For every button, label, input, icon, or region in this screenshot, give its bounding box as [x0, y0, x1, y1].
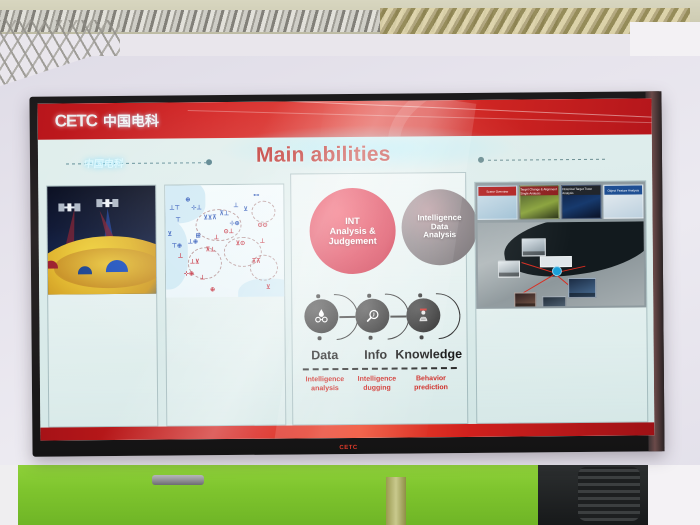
- flow-arc-dot-2a: [367, 294, 371, 298]
- panel-joint-recon-command: Joint Recon. & Command: [46, 185, 158, 428]
- map-node-thumb[interactable]: [522, 238, 546, 256]
- radar-dome-2: [78, 266, 92, 274]
- flow-arc-dot-2b: [369, 336, 373, 340]
- panel-int-analysis-judgement: INT Analysis & Judgement Intelligence Da…: [290, 172, 468, 426]
- flow-sub-knowledge: Behavior prediction: [403, 375, 459, 393]
- ability-panels: Joint Recon. & Command: [46, 180, 646, 425]
- bubble-line: Analysis &: [329, 226, 377, 236]
- title-dashed-rule-right: [488, 159, 606, 161]
- title-dot-right: [478, 157, 484, 163]
- satellite-icon-1: [59, 206, 79, 208]
- art-tactical-map: ⊥⊤ ⊤ ⊻ ⊤⊕ ⊕ ⊹⊥ ⊻⊻⊼ ⊼⊥ ⊥ ⊻ ⊹⊕ ⊥⊕: [165, 185, 284, 298]
- panel-situation-monitoring: Situation Monitoring & Early Warning: [164, 184, 286, 427]
- flow-icon-circle-info[interactable]: [355, 299, 389, 333]
- flow-connector-2: [390, 315, 406, 317]
- bubble-int-analysis-judgement[interactable]: INT Analysis & Judgement: [309, 188, 396, 275]
- decoration-chinese-text: 中国电科: [83, 155, 125, 170]
- tyre-object: [578, 467, 640, 521]
- cetc-logo: CETC 中国电科: [55, 111, 159, 132]
- flow-arc-dot-3a: [418, 293, 422, 297]
- dashboard-thumbnail[interactable]: Object Feature Analysis: [603, 184, 643, 218]
- earth-landmass: [54, 248, 156, 289]
- dashboard-thumbnail[interactable]: Historical Target Trace Analysis: [561, 185, 601, 219]
- presentation-slide: CETC 中国电科 Main abilities 中国电科: [38, 98, 655, 440]
- data-info-knowledge-flow: Data Info Knowledge Intelligence analysi…: [292, 291, 467, 419]
- bubble-line: Analysis: [418, 231, 462, 240]
- thumbnail-caption: Target Change & Alignment Single Analysi…: [520, 186, 558, 195]
- flow-icon-circle-data[interactable]: [304, 299, 338, 333]
- title-dot-left: [206, 159, 212, 165]
- wall-mounted-tv: CETC CETC 中国电科 Main abilities 中国电科: [29, 91, 664, 457]
- flow-arc-dot-1a: [316, 294, 320, 298]
- flow-connector-1: [339, 316, 355, 318]
- flow-sub-line: analysis: [297, 385, 353, 394]
- map-node-thumb[interactable]: [542, 296, 566, 307]
- cetc-logo-chinese: 中国电科: [103, 111, 159, 131]
- thumbnail-caption: Object Feature Analysis: [604, 185, 642, 194]
- art-satellite-earth: [47, 186, 156, 295]
- magnifier-icon: [364, 307, 381, 324]
- booth-photo-scene: CETC CETC 中国电科 Main abilities 中国电科: [0, 0, 700, 525]
- cetc-logo-mark: CETC: [55, 111, 97, 131]
- booth-pole: [386, 477, 406, 525]
- bubble-intelligence-data-analysis[interactable]: Intelligence Data Analysis: [401, 189, 478, 266]
- map-node-thumb[interactable]: [568, 278, 596, 298]
- map-node-thumb[interactable]: [498, 260, 520, 277]
- flow-sub-line: dugging: [349, 384, 405, 393]
- flow-sub-data: Intelligence analysis: [297, 376, 353, 394]
- flow-divider-dashed: [303, 367, 457, 370]
- dashboard-thumbnail[interactable]: Scene Overview: [477, 186, 517, 220]
- art-intelligence-dashboard: Scene Overview Target Change & Alignment…: [475, 181, 646, 308]
- floor-edge-right: [648, 465, 700, 525]
- thumbnail-caption: Scene Overview: [478, 187, 516, 196]
- dashboard-thumbnail-strip: Scene Overview Target Change & Alignment…: [477, 184, 643, 219]
- flow-arc-dot-3b: [420, 335, 424, 339]
- panel-int-distribution-sharing: INT Distribution & Sharing Scene Overvie…: [474, 180, 648, 423]
- dashboard-satellite-map[interactable]: [478, 221, 645, 306]
- map-hub-marker: [552, 266, 562, 276]
- flow-sub-line: prediction: [403, 384, 459, 393]
- flow-arc-dot-1b: [318, 336, 322, 340]
- slide-header-bar: CETC 中国电科: [38, 98, 652, 139]
- tv-screen: CETC 中国电科 Main abilities 中国电科: [38, 98, 655, 440]
- dashboard-thumbnail[interactable]: Target Change & Alignment Single Analysi…: [519, 185, 559, 219]
- bubble-line: INT: [328, 216, 376, 226]
- funnel-filter-icon: [312, 307, 330, 325]
- bubble-line: Judgement: [329, 236, 377, 246]
- flow-icon-circle-knowledge[interactable]: [406, 298, 440, 332]
- thumbnail-caption: Historical Target Trace Analysis: [562, 186, 600, 195]
- floor-edge-left: [0, 465, 18, 525]
- person-figure-icon: [414, 306, 432, 324]
- flow-label-knowledge: Knowledge: [391, 347, 467, 362]
- map-node-thumb[interactable]: [514, 292, 536, 307]
- tv-stand-foot: [152, 475, 204, 485]
- map-ring-4: [251, 201, 275, 223]
- satellite-icon-2: [97, 202, 117, 204]
- page-title: Main abilities: [256, 143, 391, 168]
- map-sea-2: [165, 219, 188, 289]
- tv-bezel-logo: CETC: [339, 445, 357, 451]
- map-sea-3: [238, 278, 284, 297]
- flow-sub-info: Intelligence dugging: [349, 375, 405, 393]
